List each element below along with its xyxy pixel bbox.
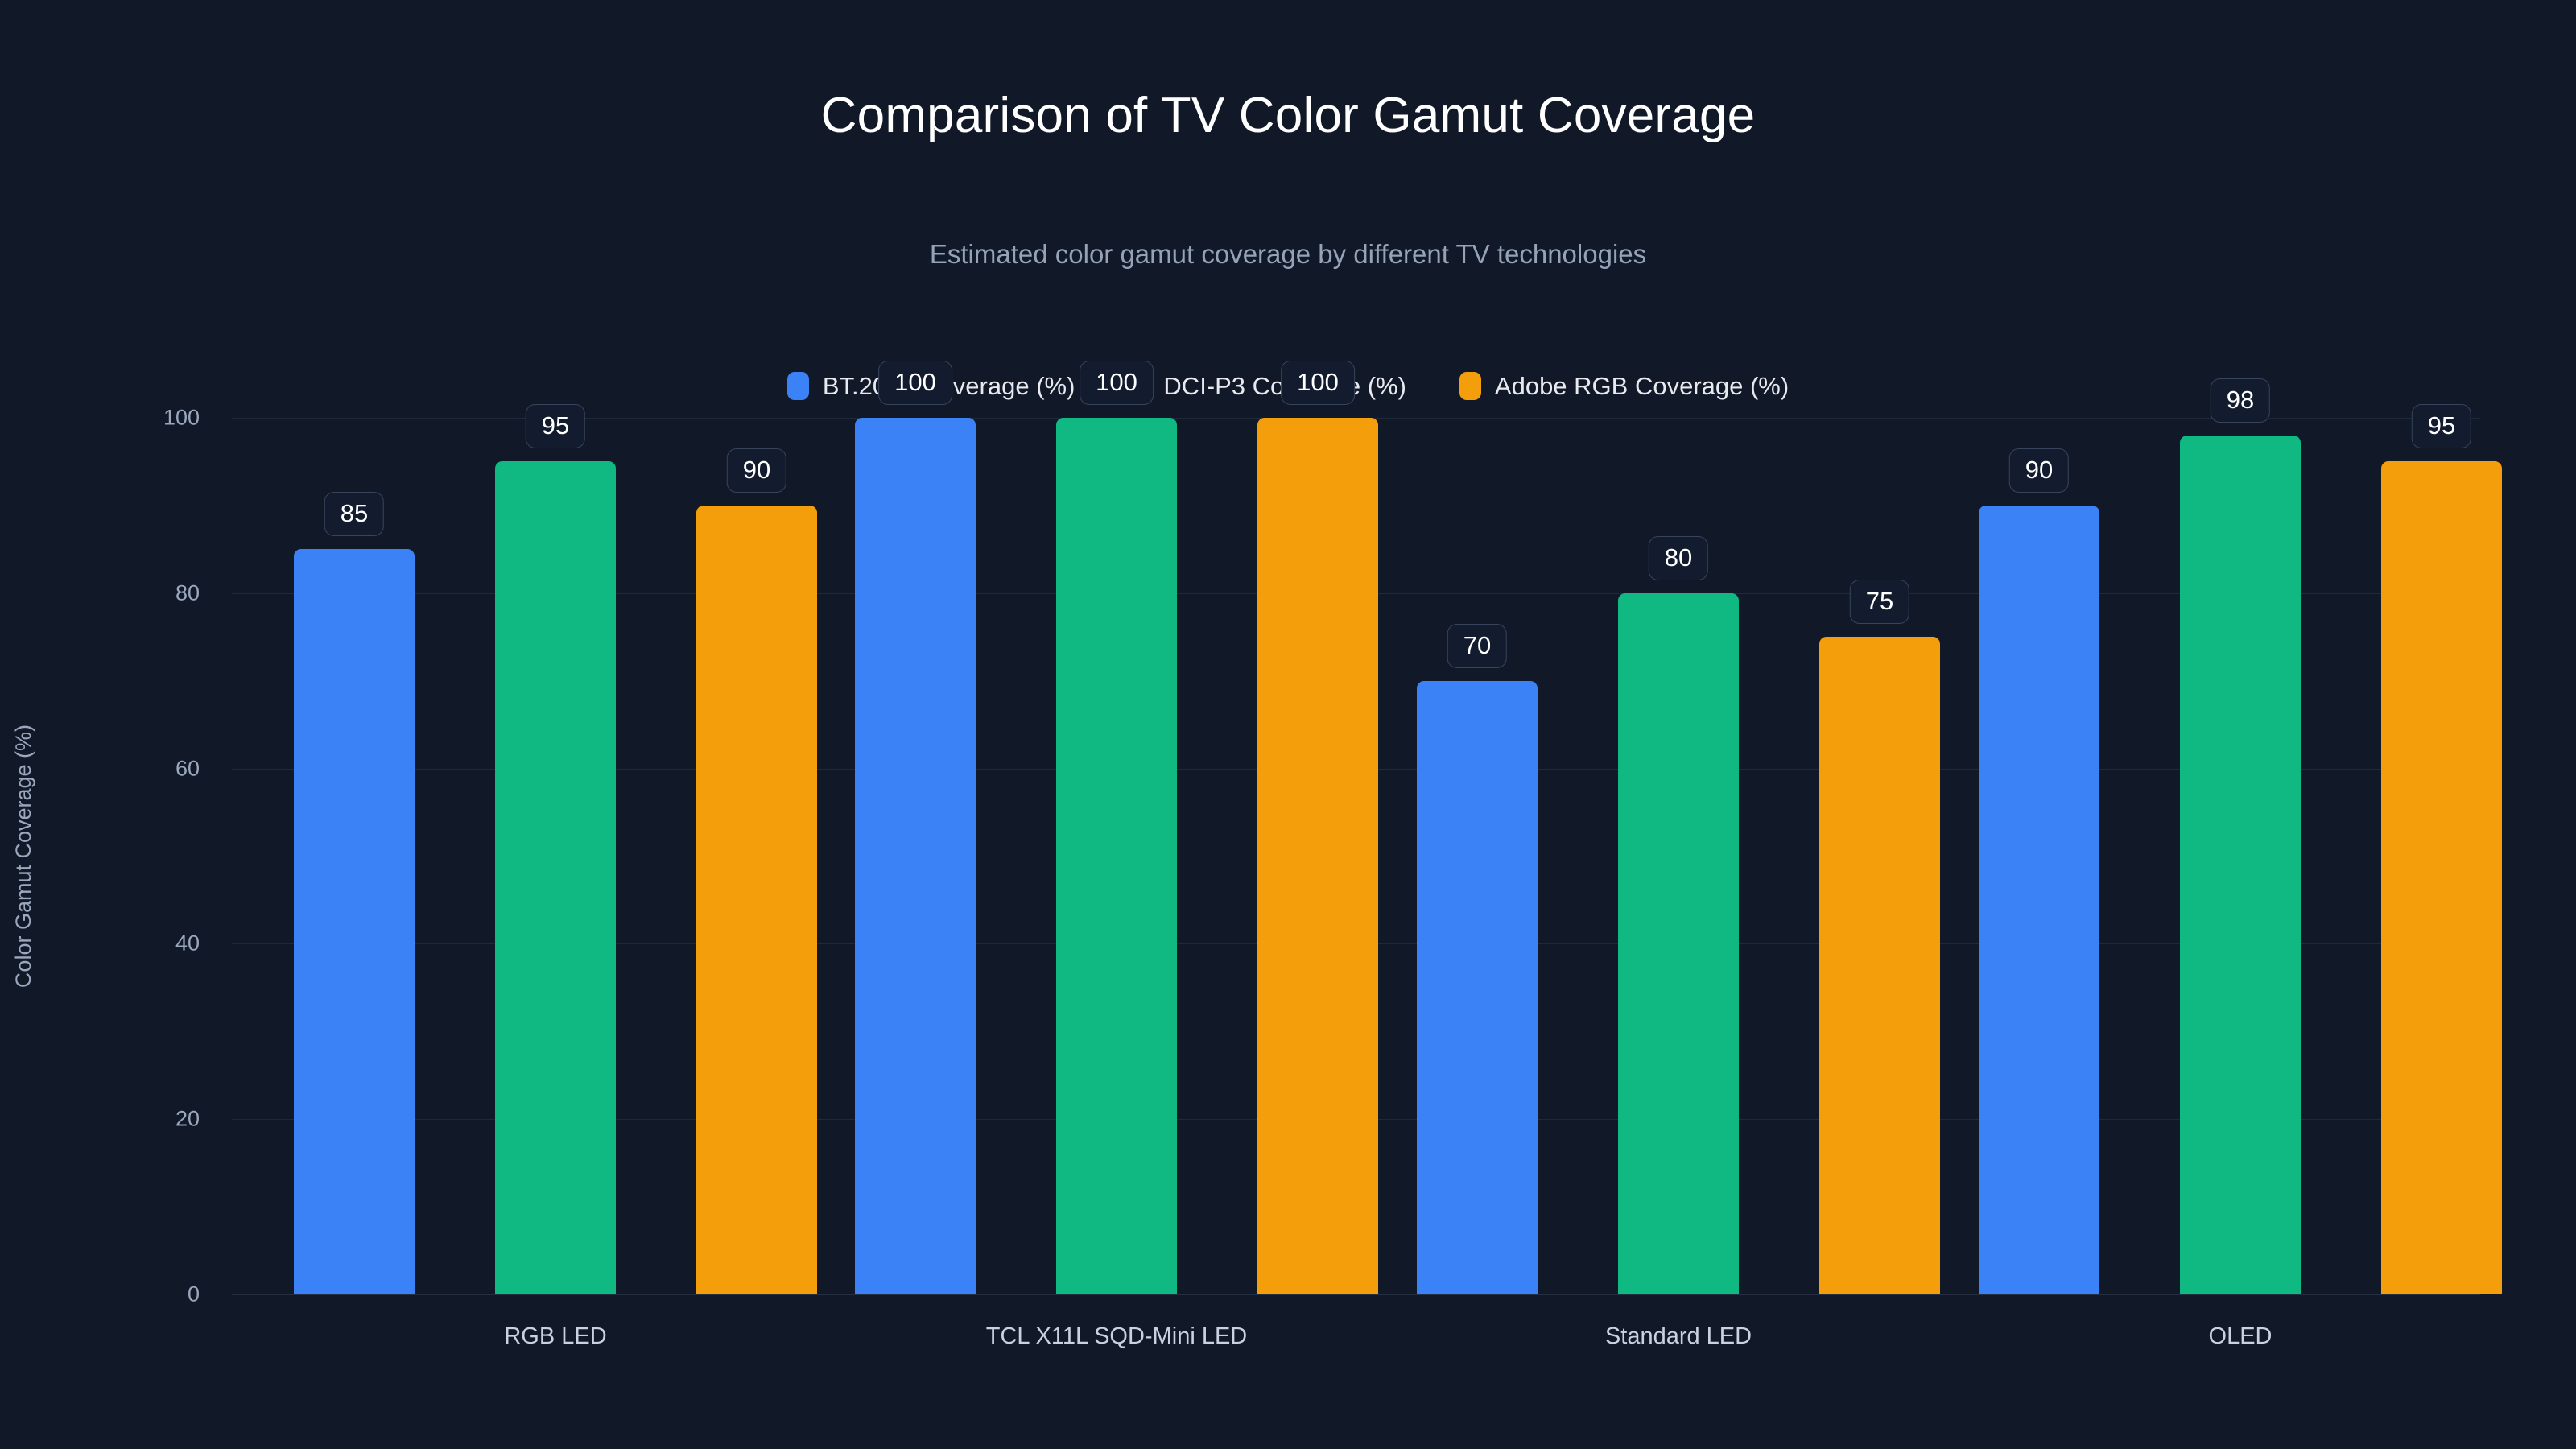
bar-value-label: 80 — [1649, 536, 1708, 580]
bar-value-label: 100 — [1080, 361, 1154, 405]
chart-subtitle: Estimated color gamut coverage by differ… — [0, 240, 2576, 269]
plot-area: 859590100100100708075909895 — [232, 418, 2480, 1294]
bar-value-label: 100 — [1281, 361, 1355, 405]
bar-1-0[interactable] — [855, 418, 976, 1294]
bar-value-label: 85 — [324, 492, 384, 536]
x-tick-label-2: Standard LED — [1605, 1325, 1752, 1348]
legend-item-2[interactable]: Adobe RGB Coverage (%) — [1459, 372, 1789, 400]
bar-value-label: 95 — [526, 404, 585, 448]
y-tick-label-0: 0 — [188, 1284, 200, 1306]
x-tick-label-3: OLED — [2209, 1325, 2273, 1348]
y-tick-label-40: 40 — [175, 933, 200, 955]
x-axis-tick-labels: RGB LEDTCL X11L SQD-Mini LEDStandard LED… — [232, 1325, 2480, 1373]
bar-value-label: 90 — [727, 448, 786, 493]
chart-container: Comparison of TV Color Gamut Coverage Es… — [0, 0, 2576, 1449]
bar-value-label: 75 — [1850, 580, 1909, 624]
bar-3-0[interactable] — [1979, 506, 2099, 1294]
bar-value-label: 90 — [2009, 448, 2069, 493]
bar-0-2[interactable] — [696, 506, 817, 1294]
y-tick-label-20: 20 — [175, 1108, 200, 1130]
chart-title: Comparison of TV Color Gamut Coverage — [0, 89, 2576, 143]
y-tick-label-100: 100 — [163, 407, 200, 429]
bar-1-1[interactable] — [1056, 418, 1177, 1294]
legend-swatch-icon — [787, 372, 809, 400]
bar-value-label: 95 — [2412, 404, 2471, 448]
bar-1-2[interactable] — [1257, 418, 1378, 1294]
bar-2-0[interactable] — [1417, 681, 1538, 1294]
y-tick-label-60: 60 — [175, 758, 200, 779]
gridline-0 — [232, 1294, 2480, 1295]
legend-item-label: Adobe RGB Coverage (%) — [1495, 374, 1789, 398]
bar-2-2[interactable] — [1819, 637, 1940, 1294]
bar-0-0[interactable] — [294, 549, 415, 1294]
bar-2-1[interactable] — [1618, 593, 1739, 1294]
legend-item-1[interactable]: DCI-P3 Coverage (%) — [1128, 372, 1406, 400]
x-tick-label-1: TCL X11L SQD-Mini LED — [986, 1325, 1247, 1348]
bar-3-1[interactable] — [2180, 436, 2301, 1294]
bar-value-label: 70 — [1447, 624, 1507, 668]
y-axis-tick-labels: 020406080100 — [0, 418, 232, 1294]
bar-0-1[interactable] — [495, 461, 616, 1294]
bar-3-2[interactable] — [2381, 461, 2502, 1294]
bar-value-label: 98 — [2211, 378, 2270, 423]
bar-value-label: 100 — [878, 361, 952, 405]
x-tick-label-0: RGB LED — [504, 1325, 606, 1348]
y-tick-label-80: 80 — [175, 582, 200, 604]
legend-swatch-icon — [1459, 372, 1481, 400]
